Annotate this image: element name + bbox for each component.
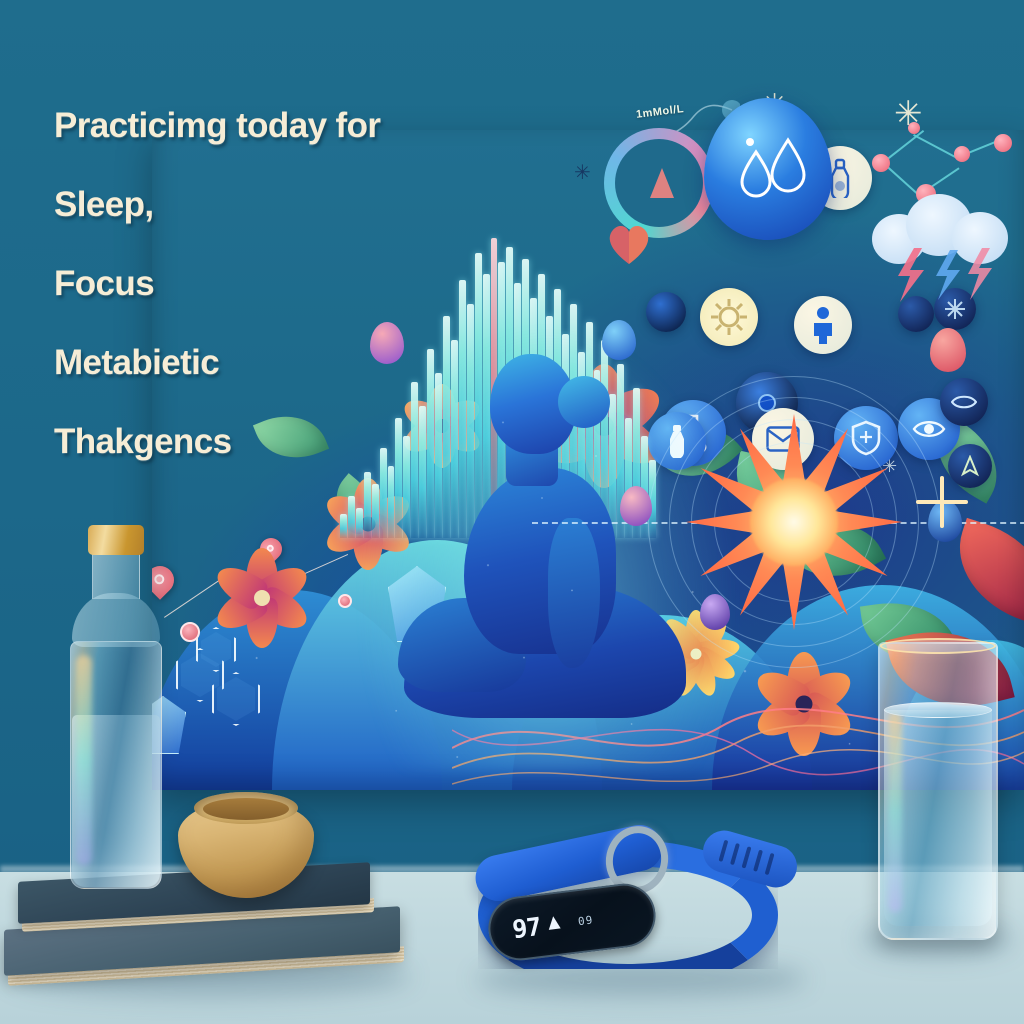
scene-canvas: 1mMol/L ✳ ✳ ✳ ✳ ✳ <box>0 0 1024 1024</box>
title-line: Sleep, <box>54 187 444 222</box>
person-icon <box>794 296 852 354</box>
chart-bar <box>348 496 355 538</box>
map-pin-icon <box>180 622 200 642</box>
water-drop-icon <box>930 328 966 372</box>
title-line: Thakgencs <box>54 424 444 459</box>
bottle-cap <box>88 525 144 555</box>
lightning-icon <box>888 248 1008 302</box>
title-line: Metabietic <box>54 345 444 380</box>
snowflake-icon: ✳ <box>574 160 591 185</box>
sun-burst-icon <box>644 372 944 672</box>
title-line: Practicimg today for <box>54 108 444 143</box>
flower-center <box>254 590 270 606</box>
cloud-rain-icon <box>866 190 1014 266</box>
drop-indicator-icon <box>547 915 560 929</box>
drop-indicator-icon <box>650 168 674 198</box>
fitness-band[interactable]: 97 09 <box>470 812 800 992</box>
water-drop-icon <box>602 320 636 360</box>
map-pin-icon <box>338 594 352 608</box>
title-line: Focus <box>54 266 444 301</box>
water-glass <box>878 642 998 940</box>
band-reading-value: 97 <box>511 911 542 943</box>
eye-icon <box>940 378 988 426</box>
water-drop-icon <box>620 486 652 526</box>
flower-icon <box>210 546 314 650</box>
glass-water-bottle <box>66 525 164 895</box>
poster-title: Practicimg today for Sleep, Focus Metabi… <box>54 108 444 459</box>
heart-icon <box>604 220 654 266</box>
wooden-bowl <box>178 790 314 898</box>
water-drop-icon <box>704 98 832 240</box>
chart-bar <box>340 514 347 538</box>
band-secondary-value: 09 <box>577 913 594 928</box>
water-drop-icon <box>700 594 730 630</box>
drop-glyphs <box>704 98 832 240</box>
plus-icon <box>912 472 972 532</box>
